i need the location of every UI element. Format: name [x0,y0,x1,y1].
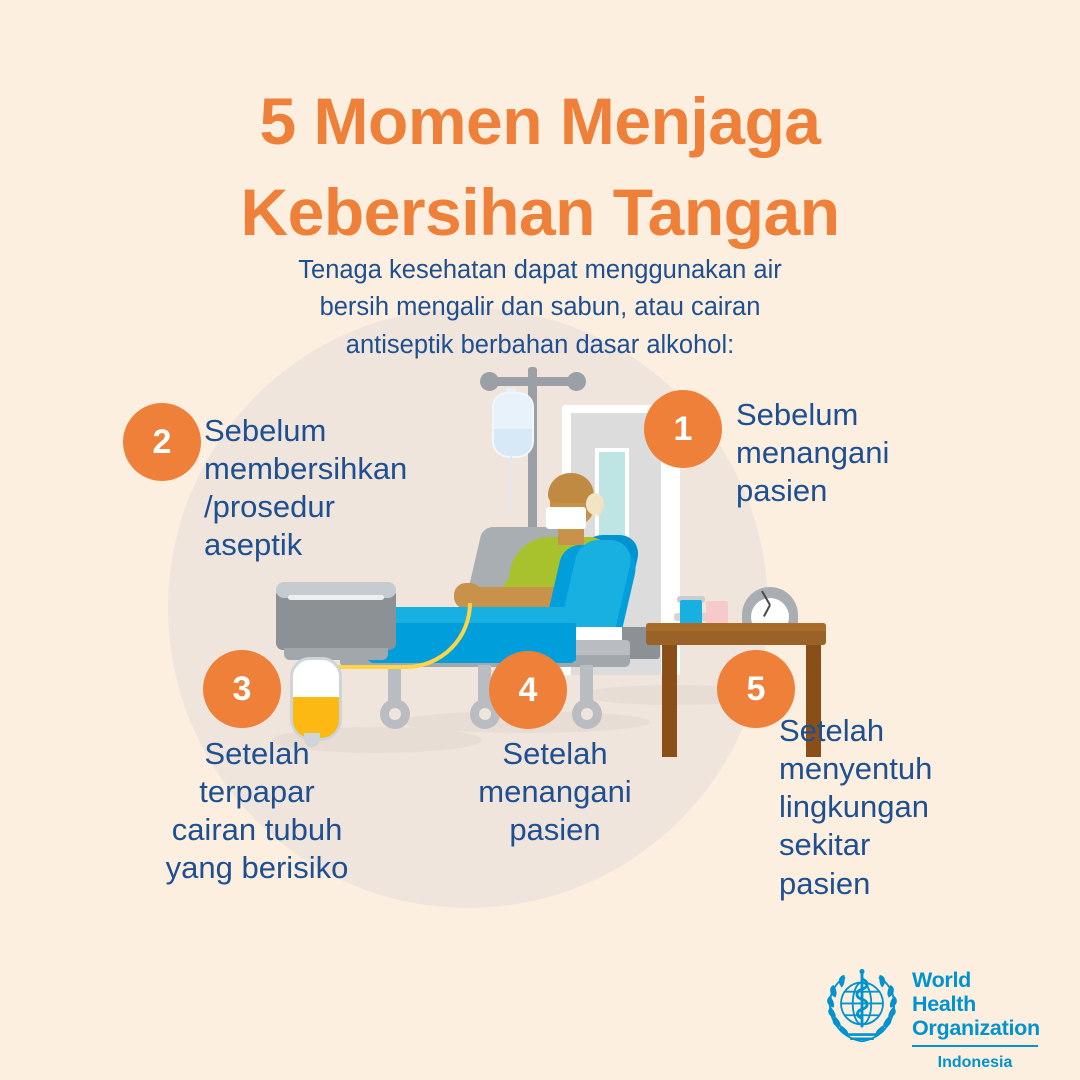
iv-tube [510,454,512,514]
step-3-line-4: yang berisiko [112,849,402,887]
step-3-line-1: Setelah [112,735,402,773]
step-2-line-1: Sebelum [204,412,494,450]
step-badge-2[interactable]: 2 [123,403,201,481]
step-5-line-5: pasien [779,865,1009,903]
blanket-scallop-3 [468,623,502,663]
step-badge-1[interactable]: 1 [644,390,722,468]
step-5-line-4: sekitar [779,826,1009,864]
step-4-line-2: menangani [430,773,680,811]
title-line-1: 5 Momen Menjaga [0,76,1080,167]
page-title: 5 Momen Menjaga Kebersihan Tangan [0,76,1080,258]
subtitle-line-2: bersih mengalir dan sabun, atau cairan [180,289,900,326]
who-line-2: Organization [912,1016,1040,1040]
patient-face-mask [546,507,586,529]
step-label-5: Setelah menyentuh lingkungan sekitar pas… [779,712,1009,903]
bed-caster-1 [380,699,410,729]
step-5-line-1: Setelah [779,712,1009,750]
bed-caster-3 [572,699,602,729]
step-label-2: Sebelum membersihkan /prosedur aseptik [204,412,494,565]
infographic-canvas: 5 Momen Menjaga Kebersihan Tangan Tenaga… [0,0,1080,1080]
step-5-line-3: lingkungan [779,788,1009,826]
step-label-1: Sebelum menangani pasien [736,396,996,510]
bedside-table-highlight [646,623,826,631]
step-badge-3[interactable]: 3 [203,650,281,728]
step-label-4: Setelah menangani pasien [430,735,680,849]
iv-knob-right [567,372,586,391]
step-4-line-1: Setelah [430,735,680,773]
subtitle-line-1: Tenaga kesehatan dapat menggunakan air [180,252,900,289]
who-wordmark: World Health Organization Indonesia [912,968,1040,1072]
step-label-3: Setelah terpapar cairan tubuh yang beris… [112,735,402,888]
step-1-line-2: menangani [736,434,996,472]
who-line-1: World Health [912,968,1040,1016]
who-logo: World Health Organization Indonesia [820,962,1035,1070]
step-2-line-4: aseptik [204,526,494,564]
who-emblem-icon [820,964,904,1048]
who-country-label: Indonesia [912,1054,1038,1072]
title-line-2: Kebersihan Tangan [0,167,1080,258]
iv-knob-left [480,372,499,391]
bed-footboard-stripe [288,595,384,600]
step-4-line-3: pasien [430,811,680,849]
who-divider [912,1045,1038,1047]
step-2-line-2: membersihkan [204,450,494,488]
step-1-line-1: Sebelum [736,396,996,434]
step-2-line-3: /prosedur [204,488,494,526]
step-5-line-2: menyentuh [779,750,1009,788]
urine-collection-bag [290,657,342,741]
page-subtitle: Tenaga kesehatan dapat menggunakan air b… [180,252,900,364]
step-1-line-3: pasien [736,472,996,510]
step-3-line-2: terpapar [112,773,402,811]
urine-bag-fluid [293,697,339,738]
iv-drip-bag [492,392,534,458]
iv-bag-fluid [494,429,532,456]
step-badge-4[interactable]: 4 [489,651,567,729]
iv-crossbar [486,377,580,386]
step-3-line-3: cairan tubuh [112,811,402,849]
